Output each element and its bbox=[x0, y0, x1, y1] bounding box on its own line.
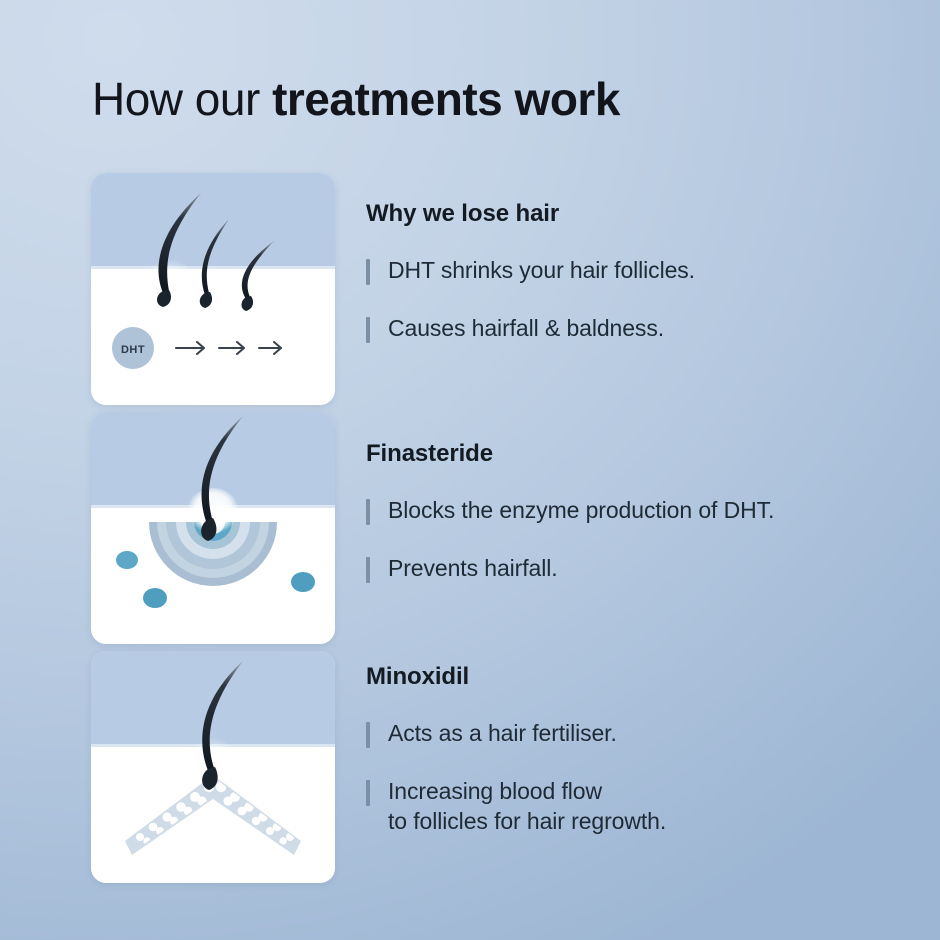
page-title: How our treatments work bbox=[92, 72, 620, 126]
bullet-bar-icon bbox=[366, 557, 370, 583]
dht-badge-label: DHT bbox=[121, 344, 145, 356]
bullet-text: Acts as a hair fertiliser. bbox=[388, 719, 617, 749]
nutrient-dot bbox=[291, 572, 315, 592]
arrow-group bbox=[176, 342, 281, 354]
follicle-bulb-illustration bbox=[91, 412, 335, 644]
list-item: Acts as a hair fertiliser. bbox=[366, 719, 666, 749]
bullet-bar-icon bbox=[366, 499, 370, 525]
shrinking-follicles-illustration: DHT bbox=[91, 173, 335, 405]
arrow-1 bbox=[176, 342, 204, 354]
list-item: Blocks the enzyme production of DHT. bbox=[366, 496, 774, 526]
bullet-text: DHT shrinks your hair follicles. bbox=[388, 256, 695, 286]
illustration-card-finasteride bbox=[91, 412, 335, 644]
bullet-bar-icon bbox=[366, 722, 370, 748]
section-title: Minoxidil bbox=[366, 663, 666, 691]
bullet-text: Increasing blood flow to follicles for h… bbox=[388, 777, 666, 837]
list-item: Prevents hairfall. bbox=[366, 554, 774, 584]
bullet-text: Causes hairfall & baldness. bbox=[388, 314, 664, 344]
page-title-bold: treatments work bbox=[272, 73, 620, 125]
section-finasteride: Finasteride Blocks the enzyme production… bbox=[366, 440, 774, 584]
bullet-bar-icon bbox=[366, 259, 370, 285]
arrow-3 bbox=[259, 342, 281, 354]
section-title: Why we lose hair bbox=[366, 200, 695, 228]
nutrient-dot bbox=[143, 588, 167, 608]
section-title: Finasteride bbox=[366, 440, 774, 468]
bullet-bar-icon bbox=[366, 317, 370, 343]
list-item: Causes hairfall & baldness. bbox=[366, 314, 695, 344]
illustration-card-minoxidil bbox=[91, 651, 335, 883]
page-title-light: How our bbox=[92, 73, 272, 125]
section-minoxidil: Minoxidil Acts as a hair fertiliser. Inc… bbox=[366, 663, 666, 837]
blood-flow-follicle-illustration bbox=[91, 651, 335, 883]
bullet-text: Prevents hairfall. bbox=[388, 554, 558, 584]
nutrient-dot bbox=[116, 551, 138, 569]
list-item: Increasing blood flow to follicles for h… bbox=[366, 777, 666, 837]
list-item: DHT shrinks your hair follicles. bbox=[366, 256, 695, 286]
section-why-we-lose-hair: Why we lose hair DHT shrinks your hair f… bbox=[366, 200, 695, 344]
arrow-2 bbox=[219, 342, 244, 354]
bullet-text: Blocks the enzyme production of DHT. bbox=[388, 496, 774, 526]
poster-root: How our treatments work bbox=[0, 0, 940, 940]
illustration-card-why-we-lose-hair: DHT bbox=[91, 173, 335, 405]
bullet-bar-icon bbox=[366, 780, 370, 806]
